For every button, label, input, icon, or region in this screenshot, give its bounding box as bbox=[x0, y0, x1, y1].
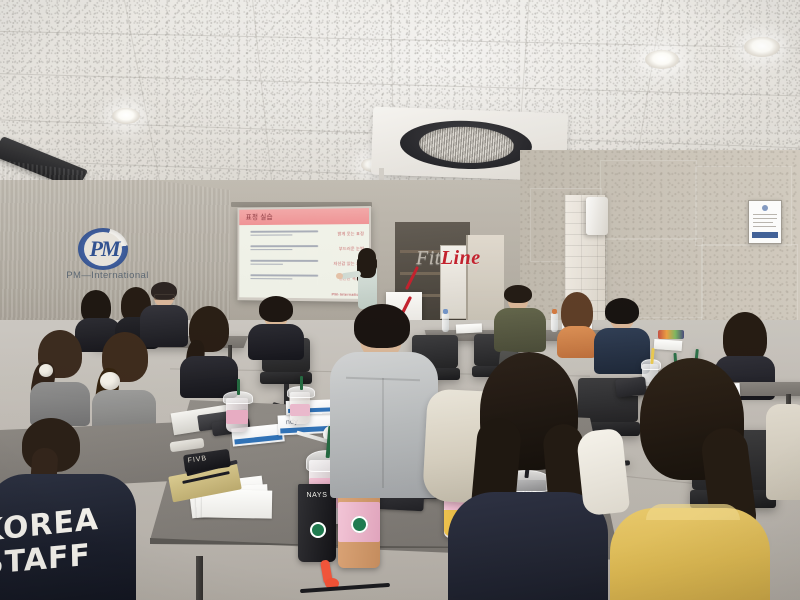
slide-text-line bbox=[250, 230, 318, 232]
attendee-torso bbox=[248, 324, 304, 360]
water-bottle bbox=[442, 313, 449, 332]
drinking-straw bbox=[237, 379, 240, 395]
cup-sleeve bbox=[290, 404, 310, 416]
notice-seal-icon bbox=[762, 205, 768, 211]
paper-sheet bbox=[654, 339, 683, 351]
cardigan-collar bbox=[646, 504, 740, 520]
attendee-center-back bbox=[248, 296, 304, 356]
iced-drink-cup-rear bbox=[288, 382, 312, 424]
wallet-pattern: FIVB bbox=[187, 453, 224, 468]
notice-text-line bbox=[753, 226, 776, 227]
notice-text-line bbox=[753, 214, 777, 215]
seminar-room-photo: FitLine PM PM—International 표정 실습 밝게 웃는 … bbox=[0, 0, 800, 600]
slide-tag: 밝게 웃는 표정 bbox=[338, 231, 365, 237]
attendee-orange-top bbox=[557, 292, 597, 354]
attendee-hair bbox=[354, 304, 410, 348]
hair-scrunchie bbox=[100, 372, 120, 390]
eyeglasses-icon bbox=[154, 294, 175, 300]
wall-mounted-speaker bbox=[586, 197, 608, 235]
attendee-torso bbox=[766, 404, 800, 500]
slide-text-line bbox=[250, 245, 318, 247]
presenter-hand bbox=[336, 273, 343, 279]
hair-scrunchie bbox=[39, 364, 53, 377]
pm-international-logo: PM PM—International bbox=[50, 228, 165, 284]
wall-swoosh-mark bbox=[398, 266, 424, 300]
starbucks-logo-icon bbox=[351, 516, 368, 533]
attendee-torso bbox=[494, 308, 546, 352]
attendee-shirt bbox=[330, 352, 438, 498]
pm-logo-monogram: PM bbox=[83, 233, 125, 265]
fitline-logo-line: Line bbox=[441, 247, 481, 269]
attendee-korea-staff-hoodie: KOREA STAFF bbox=[0, 418, 136, 600]
colorful-items bbox=[658, 330, 684, 339]
iced-coffee-cup-rear bbox=[224, 386, 250, 432]
slide-paragraph bbox=[250, 274, 318, 282]
bottle-cap bbox=[443, 309, 448, 314]
notice-band bbox=[752, 232, 778, 238]
framed-notice bbox=[748, 200, 782, 244]
fitline-logo: FitLine bbox=[416, 247, 486, 275]
attendee-far-right-seated bbox=[766, 380, 800, 500]
slide-text-line bbox=[250, 263, 282, 265]
slide-text-line bbox=[250, 249, 292, 251]
slide-text-line bbox=[250, 234, 292, 236]
ceiling-downlight bbox=[744, 37, 780, 57]
attendee-hair bbox=[605, 298, 639, 324]
attendee-ponytail-b bbox=[92, 332, 156, 428]
attendee-mustard-cardigan-woman bbox=[610, 358, 770, 600]
ceiling-downlight bbox=[645, 50, 679, 69]
cup-sleeve bbox=[226, 410, 248, 424]
paper-sheet bbox=[456, 323, 482, 333]
table-leg bbox=[196, 556, 203, 600]
attendee-white-sleeve-arm bbox=[576, 428, 631, 516]
slide-text-line bbox=[250, 274, 318, 276]
attendee-ponytail-c bbox=[180, 306, 238, 394]
slide-paragraph bbox=[250, 260, 318, 267]
attendee-top bbox=[448, 492, 608, 600]
ceiling-downlight bbox=[112, 108, 140, 124]
shirt-seam bbox=[382, 378, 384, 488]
wall-tile bbox=[600, 160, 697, 240]
attendee-cardigan bbox=[610, 508, 770, 600]
drinking-straw bbox=[300, 376, 303, 390]
attendee-hair bbox=[259, 296, 293, 322]
pm-logo-wordmark: PM—International bbox=[50, 270, 165, 281]
attendee-ponytail-a bbox=[30, 330, 90, 420]
cup-brand-text: NAYS bbox=[300, 492, 334, 499]
slide-title: 표정 실습 bbox=[246, 212, 273, 222]
slide-paragraph bbox=[250, 230, 318, 238]
starbucks-logo-icon bbox=[310, 522, 326, 538]
slide-paragraph bbox=[250, 245, 318, 252]
slide-text-line bbox=[250, 260, 318, 262]
notice-text-line bbox=[753, 222, 773, 223]
slide-text-line bbox=[250, 278, 292, 280]
notice-text-line bbox=[753, 218, 777, 219]
attendee-hair bbox=[504, 285, 532, 303]
